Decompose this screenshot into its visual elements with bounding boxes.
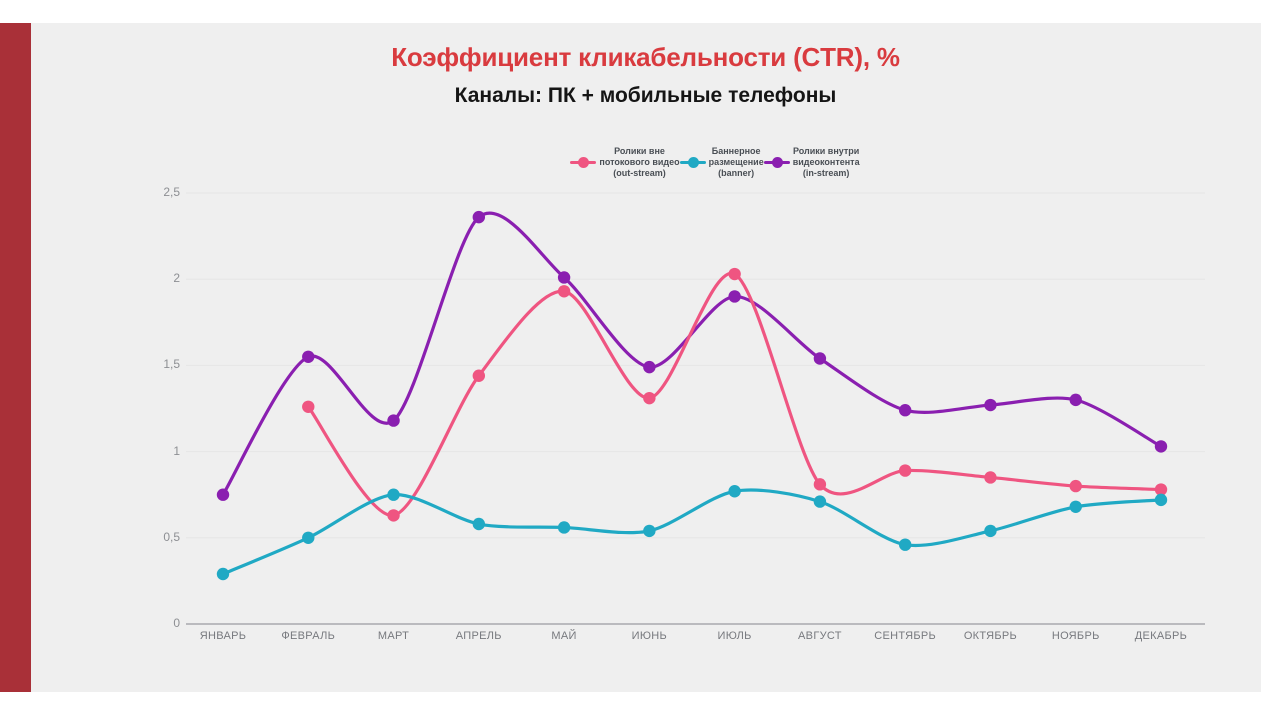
series-line-in-stream (223, 213, 1161, 495)
data-point-marker[interactable] (1155, 440, 1167, 452)
data-point-marker[interactable] (643, 525, 655, 537)
data-point-marker[interactable] (217, 489, 229, 501)
data-point-marker[interactable] (728, 268, 740, 280)
data-point-marker[interactable] (473, 518, 485, 530)
data-point-marker[interactable] (899, 538, 911, 550)
data-point-marker[interactable] (728, 485, 740, 497)
data-point-marker[interactable] (899, 404, 911, 416)
data-point-marker[interactable] (899, 464, 911, 476)
data-point-marker[interactable] (1070, 501, 1082, 513)
series-line-out-stream (308, 273, 1161, 515)
data-point-marker[interactable] (302, 532, 314, 544)
data-point-marker[interactable] (643, 392, 655, 404)
data-point-marker[interactable] (558, 285, 570, 297)
data-point-marker[interactable] (558, 271, 570, 283)
data-point-marker[interactable] (1155, 494, 1167, 506)
data-point-marker[interactable] (984, 471, 996, 483)
data-point-marker[interactable] (558, 521, 570, 533)
data-point-marker[interactable] (984, 525, 996, 537)
data-point-marker[interactable] (1070, 480, 1082, 492)
data-point-marker[interactable] (387, 489, 399, 501)
data-point-marker[interactable] (728, 290, 740, 302)
data-point-marker[interactable] (302, 401, 314, 413)
data-point-marker[interactable] (473, 370, 485, 382)
data-point-marker[interactable] (814, 478, 826, 490)
data-point-marker[interactable] (814, 352, 826, 364)
data-point-marker[interactable] (473, 211, 485, 223)
slide-canvas: Коэффициент кликабельности (CTR), % Кана… (0, 0, 1280, 720)
data-point-marker[interactable] (387, 414, 399, 426)
data-point-marker[interactable] (1070, 394, 1082, 406)
data-point-marker[interactable] (643, 361, 655, 373)
series-line-banner (223, 490, 1161, 574)
line-chart-plot (0, 0, 1280, 720)
data-point-marker[interactable] (984, 399, 996, 411)
data-point-marker[interactable] (814, 495, 826, 507)
data-point-marker[interactable] (302, 351, 314, 363)
data-point-marker[interactable] (387, 509, 399, 521)
data-point-marker[interactable] (217, 568, 229, 580)
